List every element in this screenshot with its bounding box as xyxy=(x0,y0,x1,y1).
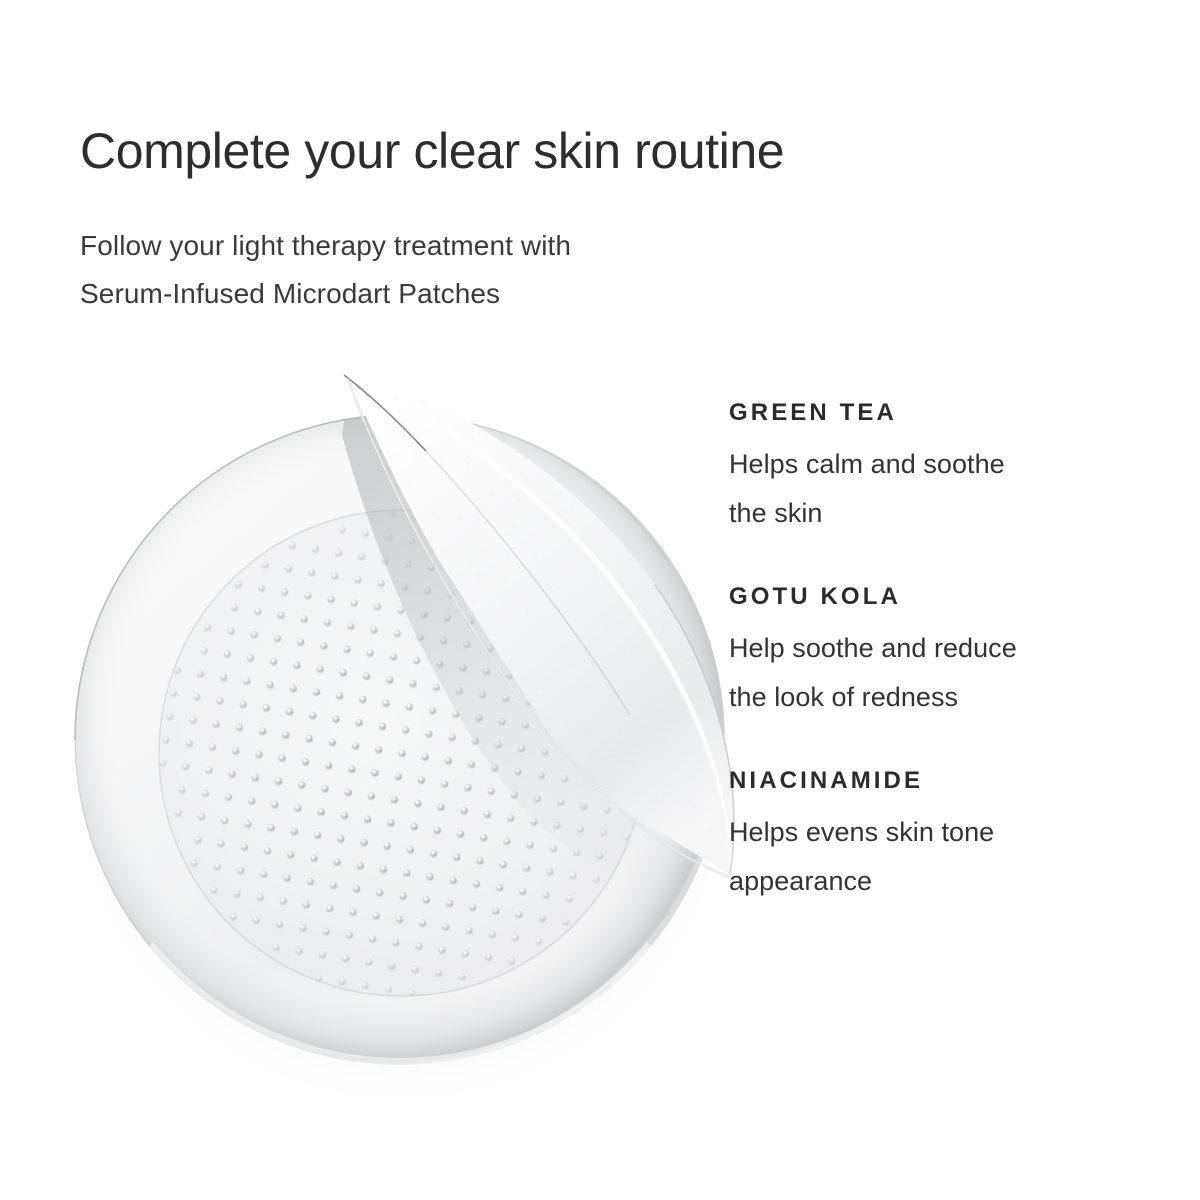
ingredient-desc-niacinamide: Helps evens skin tone appearance xyxy=(729,808,1129,906)
ingredient-name-gotu-kola: GOTU KOLA xyxy=(729,580,1129,614)
desc-line: Helps calm and soothe xyxy=(729,440,1129,489)
desc-line: the look of redness xyxy=(729,673,1129,722)
page-subtitle: Follow your light therapy treatment with… xyxy=(80,222,571,318)
ingredient-desc-green-tea: Helps calm and soothe the skin xyxy=(729,440,1129,538)
desc-line: the skin xyxy=(729,489,1129,538)
ingredient-name-green-tea: GREEN TEA xyxy=(729,396,1129,430)
ingredient-list: GREEN TEA Helps calm and soothe the skin… xyxy=(729,396,1129,906)
desc-line: Help soothe and reduce xyxy=(729,624,1129,673)
desc-line: appearance xyxy=(729,857,1129,906)
subtitle-line-2: Serum-Infused Microdart Patches xyxy=(80,270,571,318)
ingredient-item-gotu-kola: GOTU KOLA Help soothe and reduce the loo… xyxy=(729,580,1129,722)
page-root: Complete your clear skin routine Follow … xyxy=(0,0,1200,1200)
subtitle-line-1: Follow your light therapy treatment with xyxy=(80,222,571,270)
ingredient-desc-gotu-kola: Help soothe and reduce the look of redne… xyxy=(729,624,1129,722)
page-title: Complete your clear skin routine xyxy=(80,124,784,179)
product-image xyxy=(30,355,790,1115)
desc-line: Helps evens skin tone xyxy=(729,808,1129,857)
ingredient-item-green-tea: GREEN TEA Helps calm and soothe the skin xyxy=(729,396,1129,538)
ingredient-name-niacinamide: NIACINAMIDE xyxy=(729,764,1129,798)
ingredient-item-niacinamide: NIACINAMIDE Helps evens skin tone appear… xyxy=(729,764,1129,906)
